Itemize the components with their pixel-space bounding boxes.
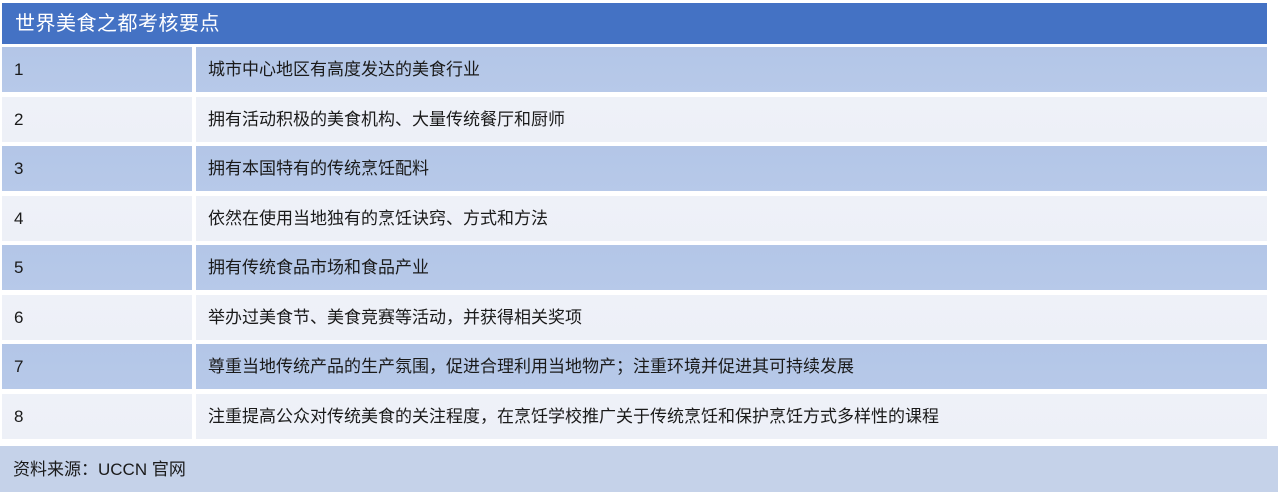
table-row: 3 拥有本国特有的传统烹饪配料 <box>0 145 1278 195</box>
table-row: 4 依然在使用当地独有的烹饪诀窍、方式和方法 <box>0 195 1278 245</box>
row-content-cell: 举办过美食节、美食竞赛等活动，并获得相关奖项 <box>196 295 1267 340</box>
row-content-cell: 拥有活动积极的美食机构、大量传统餐厅和厨师 <box>196 97 1267 142</box>
row-number-cell: 7 <box>2 344 192 389</box>
row-number-cell: 1 <box>2 47 192 92</box>
source-note: 资料来源：UCCN 官网 <box>13 461 186 478</box>
page-title: 世界美食之都考核要点 <box>15 14 220 34</box>
row-content: 拥有本国特有的传统烹饪配料 <box>208 160 429 177</box>
table-row: 5 拥有传统食品市场和食品产业 <box>0 244 1278 294</box>
row-content: 注重提高公众对传统美食的关注程度，在烹饪学校推广关于传统烹饪和保护烹饪方式多样性… <box>208 408 939 425</box>
row-content-cell: 尊重当地传统产品的生产氛围，促进合理利用当地物产；注重环境并促进其可持续发展 <box>196 344 1267 389</box>
row-content: 拥有活动积极的美食机构、大量传统餐厅和厨师 <box>208 111 565 128</box>
row-number-cell: 8 <box>2 394 192 439</box>
table-body: 1 城市中心地区有高度发达的美食行业 2 拥有活动积极的美食机构、大量传统餐厅和… <box>0 46 1278 444</box>
row-number-cell: 4 <box>2 196 192 241</box>
row-content-cell: 拥有本国特有的传统烹饪配料 <box>196 146 1267 191</box>
row-content: 依然在使用当地独有的烹饪诀窍、方式和方法 <box>208 210 548 227</box>
table-source-footer: 资料来源：UCCN 官网 <box>0 446 1278 492</box>
row-content: 拥有传统食品市场和食品产业 <box>208 259 429 276</box>
row-number: 3 <box>14 160 23 177</box>
row-content-cell: 拥有传统食品市场和食品产业 <box>196 245 1267 290</box>
row-content-cell: 依然在使用当地独有的烹饪诀窍、方式和方法 <box>196 196 1267 241</box>
table-row: 2 拥有活动积极的美食机构、大量传统餐厅和厨师 <box>0 96 1278 146</box>
row-content: 尊重当地传统产品的生产氛围，促进合理利用当地物产；注重环境并促进其可持续发展 <box>208 358 854 375</box>
table-row: 6 举办过美食节、美食竞赛等活动，并获得相关奖项 <box>0 294 1278 344</box>
row-number-cell: 3 <box>2 146 192 191</box>
row-number: 5 <box>14 259 23 276</box>
row-content-cell: 注重提高公众对传统美食的关注程度，在烹饪学校推广关于传统烹饪和保护烹饪方式多样性… <box>196 394 1267 439</box>
row-content: 城市中心地区有高度发达的美食行业 <box>208 61 480 78</box>
row-number: 7 <box>14 358 23 375</box>
row-number: 4 <box>14 210 23 227</box>
row-content-cell: 城市中心地区有高度发达的美食行业 <box>196 47 1267 92</box>
row-number: 8 <box>14 408 23 425</box>
criteria-table: 世界美食之都考核要点 1 城市中心地区有高度发达的美食行业 2 拥有活动积极的美… <box>0 0 1278 492</box>
table-row: 8 注重提高公众对传统美食的关注程度，在烹饪学校推广关于传统烹饪和保护烹饪方式多… <box>0 393 1278 443</box>
table-header-banner: 世界美食之都考核要点 <box>2 3 1267 44</box>
row-number: 6 <box>14 309 23 326</box>
table-row: 1 城市中心地区有高度发达的美食行业 <box>0 46 1278 96</box>
table-row: 7 尊重当地传统产品的生产氛围，促进合理利用当地物产；注重环境并促进其可持续发展 <box>0 343 1278 393</box>
row-number: 1 <box>14 61 23 78</box>
row-number: 2 <box>14 111 23 128</box>
row-number-cell: 6 <box>2 295 192 340</box>
row-number-cell: 2 <box>2 97 192 142</box>
row-number-cell: 5 <box>2 245 192 290</box>
row-content: 举办过美食节、美食竞赛等活动，并获得相关奖项 <box>208 309 582 326</box>
